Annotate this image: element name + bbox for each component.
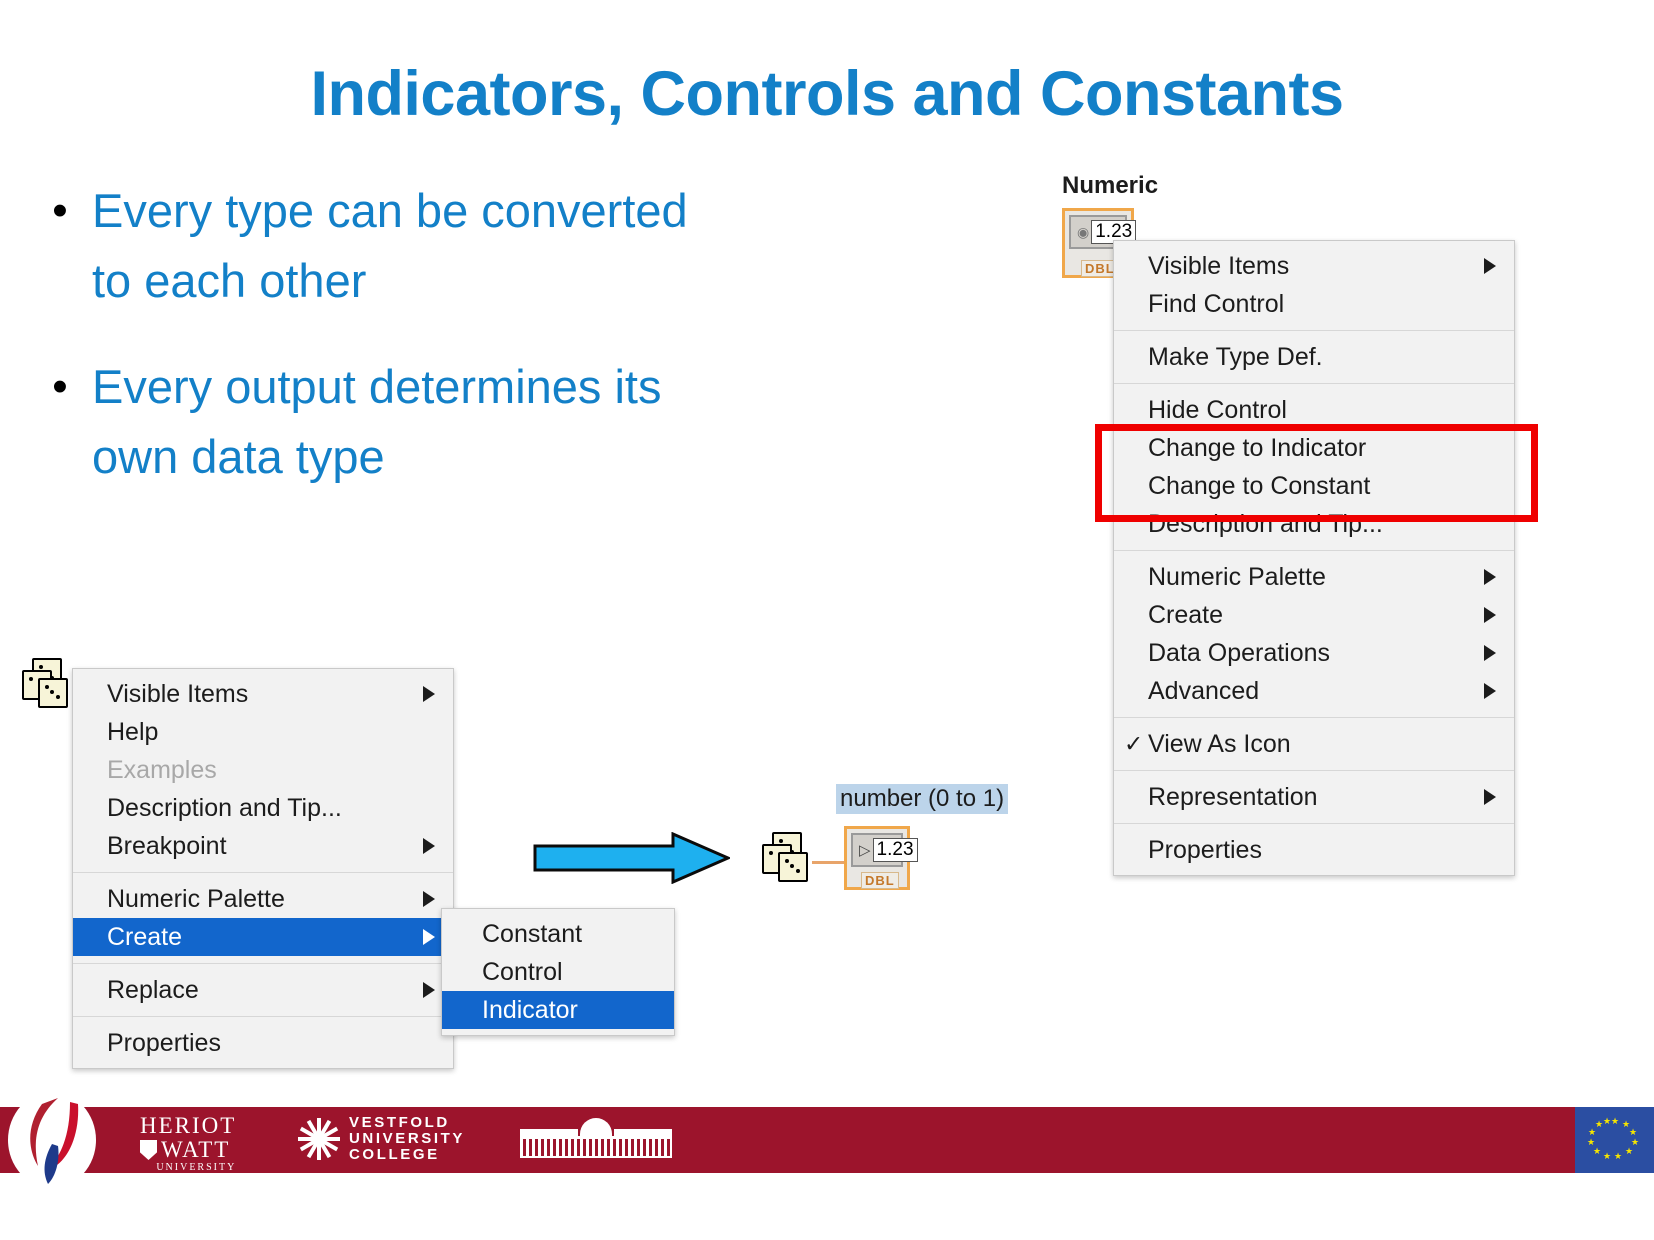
dice-icon [20,658,76,710]
menu-separator [73,963,453,964]
menu-item-label: Replace [107,976,199,1005]
building-logo [520,1118,672,1158]
numeric-indicator-inner: ▷ 1.23 [851,833,903,867]
page-title: Indicators, Controls and Constants [0,58,1654,130]
vestfold-line1: VESTFOLD [349,1115,465,1131]
menu-item-properties[interactable]: Properties [73,1024,453,1062]
menu-separator [1114,383,1514,384]
context-menu-right[interactable]: Visible Items Find Control Make Type Def… [1113,240,1515,876]
chevron-right-icon [423,686,435,702]
chevron-right-icon [423,982,435,998]
chevron-right-icon [1484,258,1496,274]
checkmark-icon: ✓ [1124,731,1143,758]
bullet-list: • Every type can be converted to each ot… [28,176,708,528]
paralympic-logo [8,1092,96,1188]
menu-item-label: Change to Constant [1148,472,1370,501]
snowflake-icon [298,1118,340,1160]
type-tag: DBL [861,872,899,889]
building-columns [520,1139,672,1156]
menu-item-label: Hide Control [1148,396,1287,425]
menu-separator [1114,717,1514,718]
vestfold-line2: UNIVERSITY [349,1131,465,1147]
submenu-item-label: Control [482,958,563,987]
menu-item-label: Description and Tip... [1148,510,1383,539]
numeric-value: 1.23 [873,838,918,862]
heriot-watt-logo: HERIOT WATT UNIVERSITY [140,1114,236,1173]
menu-item-description-and-tip[interactable]: Description and Tip... [73,789,453,827]
vestfold-line3: COLLEGE [349,1147,465,1163]
menu-item-hide-control[interactable]: Hide Control [1114,391,1514,429]
submenu-item-indicator[interactable]: Indicator [442,991,674,1029]
numeric-indicator[interactable]: ▷ 1.23 DBL [844,826,910,890]
menu-separator [73,872,453,873]
building-dome [580,1118,612,1136]
menu-item-description-and-tip[interactable]: Description and Tip... [1114,505,1514,543]
menu-separator [1114,770,1514,771]
menu-item-breakpoint[interactable]: Breakpoint [73,827,453,865]
menu-item-change-to-constant[interactable]: Change to Constant [1114,467,1514,505]
menu-item-visible-items[interactable]: Visible Items [1114,247,1514,285]
hw-line3: UNIVERSITY [140,1162,236,1173]
footer-bar [0,1107,1654,1173]
bullet-marker-icon: • [28,352,92,422]
menu-item-label: Numeric Palette [1148,563,1326,592]
menu-item-numeric-palette[interactable]: Numeric Palette [73,880,453,918]
chevron-right-icon [1484,569,1496,585]
eu-flag-icon: ★ ★ ★ ★ ★ ★ ★ ★ ★ ★ ★ ★ [1575,1107,1654,1173]
menu-item-label: Change to Indicator [1148,434,1366,463]
flow-arrow-icon [533,832,730,884]
chevron-right-icon [423,838,435,854]
menu-item-label: Advanced [1148,677,1259,706]
menu-item-label: Description and Tip... [107,794,342,823]
knob-icon: ◉ [1077,224,1089,241]
menu-item-label: View As Icon [1148,730,1291,759]
menu-item-label: Help [107,718,158,747]
list-item: • Every output determines its own data t… [28,352,708,492]
submenu-item-label: Constant [482,920,582,949]
chevron-right-icon [1484,607,1496,623]
chevron-right-icon [1484,645,1496,661]
menu-item-label: Examples [107,756,217,785]
chevron-right-icon [423,929,435,945]
menu-item-advanced[interactable]: Advanced [1114,672,1514,710]
menu-item-examples: Examples [73,751,453,789]
menu-separator [1114,550,1514,551]
numeric-control-label: Numeric [1062,172,1158,200]
hw-line2: WATT [161,1138,230,1162]
hw-line1: HERIOT [140,1114,236,1138]
vestfold-logo: VESTFOLD UNIVERSITY COLLEGE [298,1115,465,1163]
input-terminal-icon: ▷ [859,841,871,859]
menu-item-label: Properties [107,1029,221,1058]
menu-item-visible-items[interactable]: Visible Items [73,675,453,713]
submenu-item-control[interactable]: Control [442,953,674,991]
menu-item-view-as-icon[interactable]: ✓ View As Icon [1114,725,1514,763]
menu-item-label: Visible Items [1148,252,1289,281]
menu-item-label: Data Operations [1148,639,1330,668]
bullet-text: Every output determines its own data typ… [92,352,708,492]
menu-item-find-control[interactable]: Find Control [1114,285,1514,323]
bullet-text: Every type can be converted to each othe… [92,176,708,316]
menu-item-change-to-indicator[interactable]: Change to Indicator [1114,429,1514,467]
chevron-right-icon [1484,683,1496,699]
menu-item-representation[interactable]: Representation [1114,778,1514,816]
menu-item-label: Breakpoint [107,832,227,861]
building-roof-right [614,1129,672,1136]
menu-item-label: Representation [1148,783,1318,812]
menu-item-data-operations[interactable]: Data Operations [1114,634,1514,672]
menu-item-create[interactable]: Create [1114,596,1514,634]
menu-item-properties[interactable]: Properties [1114,831,1514,869]
menu-item-label: Create [1148,601,1223,630]
terminal-label: number (0 to 1) [836,784,1008,814]
menu-item-numeric-palette[interactable]: Numeric Palette [1114,558,1514,596]
submenu-item-constant[interactable]: Constant [442,915,674,953]
chevron-right-icon [1484,789,1496,805]
building-roof-left [520,1129,578,1136]
list-item: • Every type can be converted to each ot… [28,176,708,316]
menu-separator [73,1016,453,1017]
shield-icon [140,1140,157,1160]
menu-item-help[interactable]: Help [73,713,453,751]
menu-separator [1114,330,1514,331]
menu-item-create[interactable]: Create [73,918,453,956]
menu-item-label: Visible Items [107,680,248,709]
menu-item-label: Numeric Palette [107,885,285,914]
menu-item-label: Find Control [1148,290,1284,319]
context-submenu-create[interactable]: Constant Control Indicator [441,908,675,1036]
submenu-item-label: Indicator [482,996,578,1025]
menu-item-label: Properties [1148,836,1262,865]
dice-icon [760,832,816,884]
menu-item-make-type-def[interactable]: Make Type Def. [1114,338,1514,376]
bullet-marker-icon: • [28,176,92,246]
menu-separator [1114,823,1514,824]
menu-item-label: Make Type Def. [1148,343,1323,372]
menu-item-replace[interactable]: Replace [73,971,453,1009]
chevron-right-icon [423,891,435,907]
context-menu-left[interactable]: Visible Items Help Examples Description … [72,668,454,1069]
menu-item-label: Create [107,923,182,952]
